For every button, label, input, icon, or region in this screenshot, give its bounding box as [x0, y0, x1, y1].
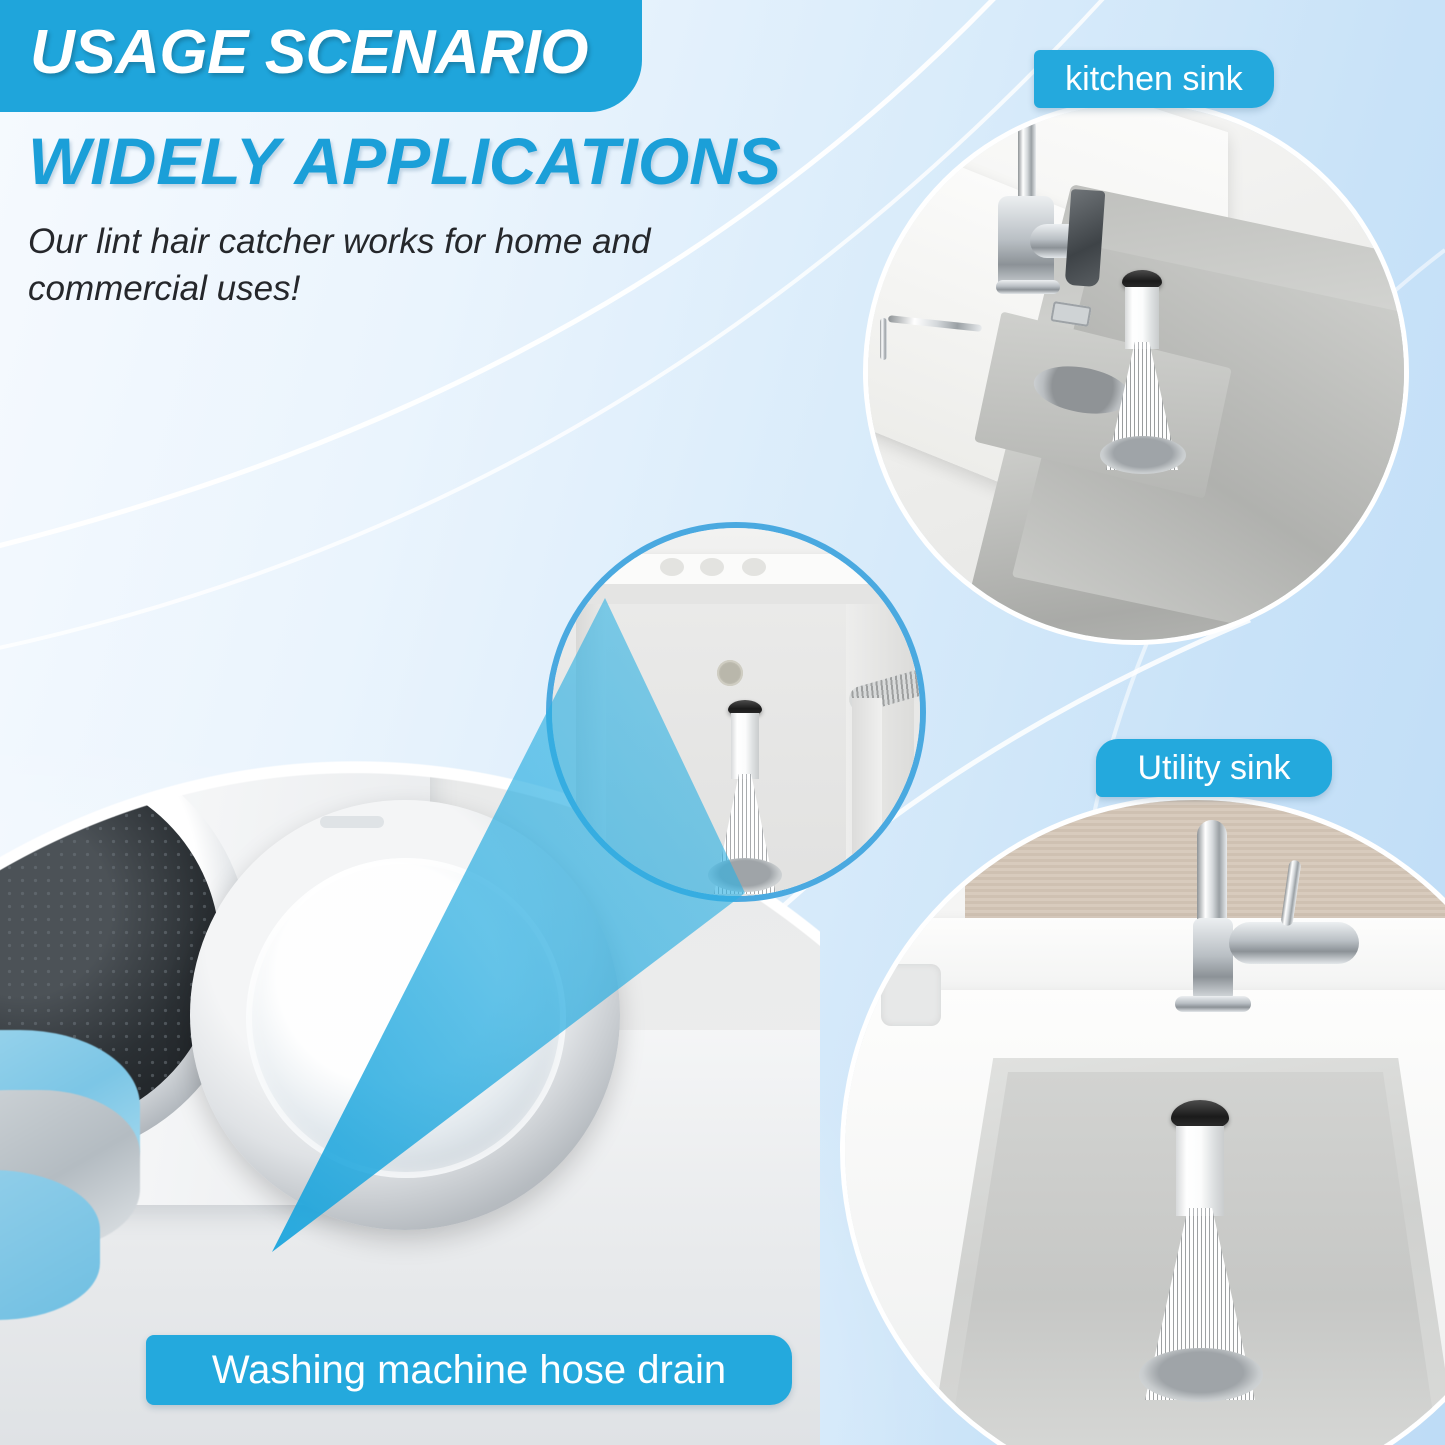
label-washing-machine-hose-drain: Washing machine hose drain — [146, 1335, 792, 1405]
label-utility-sink: Utility sink — [1096, 739, 1332, 797]
washer-hose-drain-photo — [552, 528, 920, 896]
banner-title: USAGE SCENARIO — [30, 22, 588, 84]
kitchen-sink-photo — [868, 104, 1404, 640]
utility-sink-photo — [845, 800, 1445, 1445]
page-title: WIDELY APPLICATIONS — [28, 128, 781, 194]
label-kitchen-sink: kitchen sink — [1034, 50, 1274, 108]
subtitle: Our lint hair catcher works for home and… — [28, 218, 748, 313]
product-infographic: USAGE SCENARIO WIDELY APPLICATIONS Our l… — [0, 0, 1445, 1445]
